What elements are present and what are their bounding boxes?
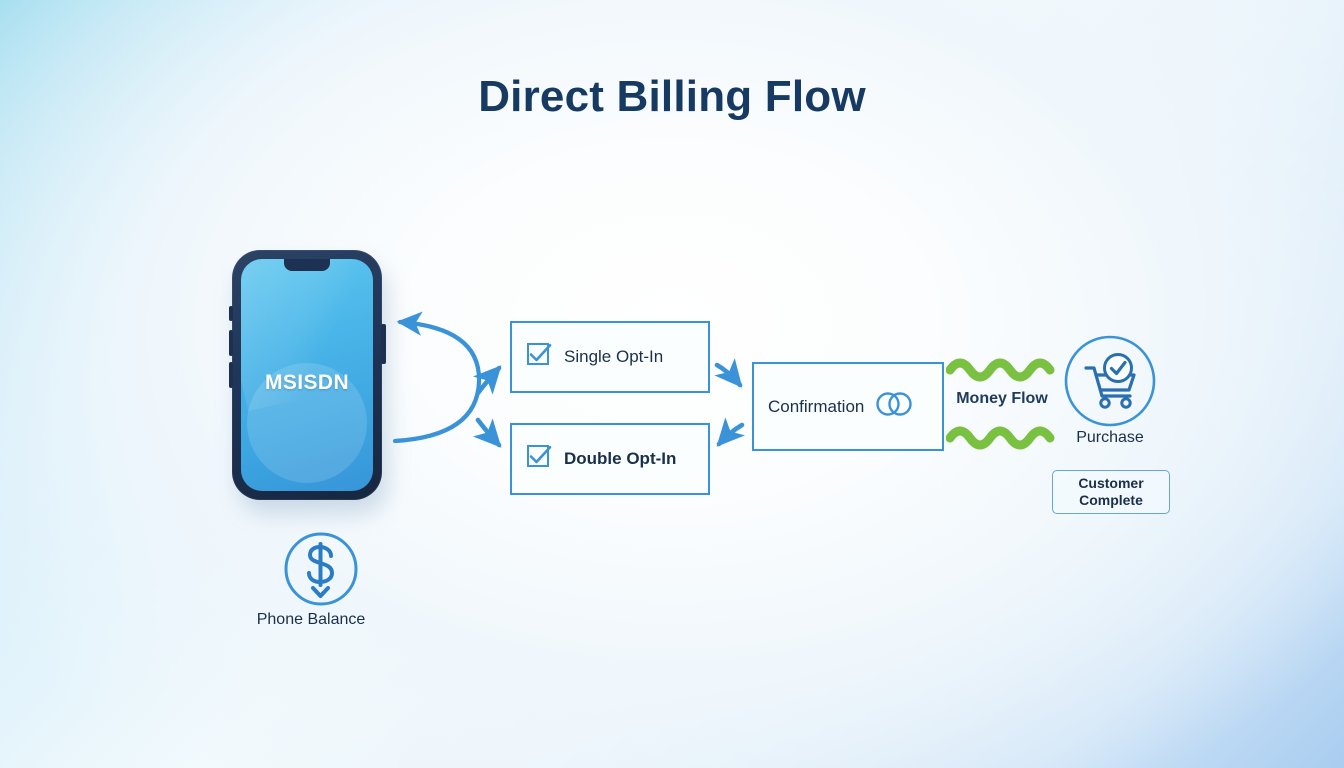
- phone-bezel: MSISDN: [232, 250, 382, 500]
- single-opt-in-label: Single Opt-In: [564, 347, 663, 367]
- double-opt-in-box[interactable]: Double Opt-In: [510, 423, 710, 495]
- link-chain-icon: [874, 390, 914, 423]
- money-flow-group: Money Flow: [946, 356, 1058, 452]
- checkbox-checked-icon: [526, 444, 552, 475]
- phone-volume-up-button: [229, 330, 233, 356]
- msisdn-label: MSISDN: [241, 371, 373, 395]
- arrow-phone-to-single-opt-in: [478, 368, 499, 393]
- confirmation-label: Confirmation: [768, 397, 864, 417]
- phone-mute-button: [229, 306, 233, 321]
- customer-complete-line2: Complete: [1079, 492, 1143, 508]
- phone-balance-label: Phone Balance: [231, 611, 391, 629]
- phone-balance-group: Phone Balance: [251, 531, 371, 631]
- diagram-canvas: Direct Billing Flow MSISDN Single Opt-In: [0, 0, 1344, 768]
- customer-complete-line1: Customer: [1078, 475, 1143, 491]
- purchase-label: Purchase: [1050, 429, 1170, 447]
- phone-volume-down-button: [229, 362, 233, 388]
- confirmation-box[interactable]: Confirmation: [752, 362, 944, 451]
- money-flow-label: Money Flow: [946, 390, 1058, 408]
- shopping-cart-check-icon: [1062, 333, 1158, 429]
- arrow-phone-to-double-opt-in: [478, 420, 499, 445]
- phone-screen: MSISDN: [241, 259, 373, 491]
- phone-notch-icon: [284, 259, 330, 271]
- dollar-down-circle-icon: [281, 531, 361, 611]
- arrow-confirmation-to-double-opt-in: [719, 425, 742, 444]
- customer-complete-badge: Customer Complete: [1052, 470, 1170, 514]
- phone-device: MSISDN: [232, 250, 388, 508]
- single-opt-in-box[interactable]: Single Opt-In: [510, 321, 710, 393]
- checkbox-checked-icon: [526, 342, 552, 373]
- double-opt-in-label: Double Opt-In: [564, 449, 676, 469]
- arrow-loop-back-to-phone: [395, 322, 479, 441]
- arrow-single-opt-in-to-confirmation: [717, 365, 740, 385]
- page-title: Direct Billing Flow: [0, 72, 1344, 122]
- purchase-group: Purchase: [1062, 333, 1158, 453]
- phone-power-button: [381, 324, 386, 364]
- customer-complete-text: Customer Complete: [1078, 475, 1143, 508]
